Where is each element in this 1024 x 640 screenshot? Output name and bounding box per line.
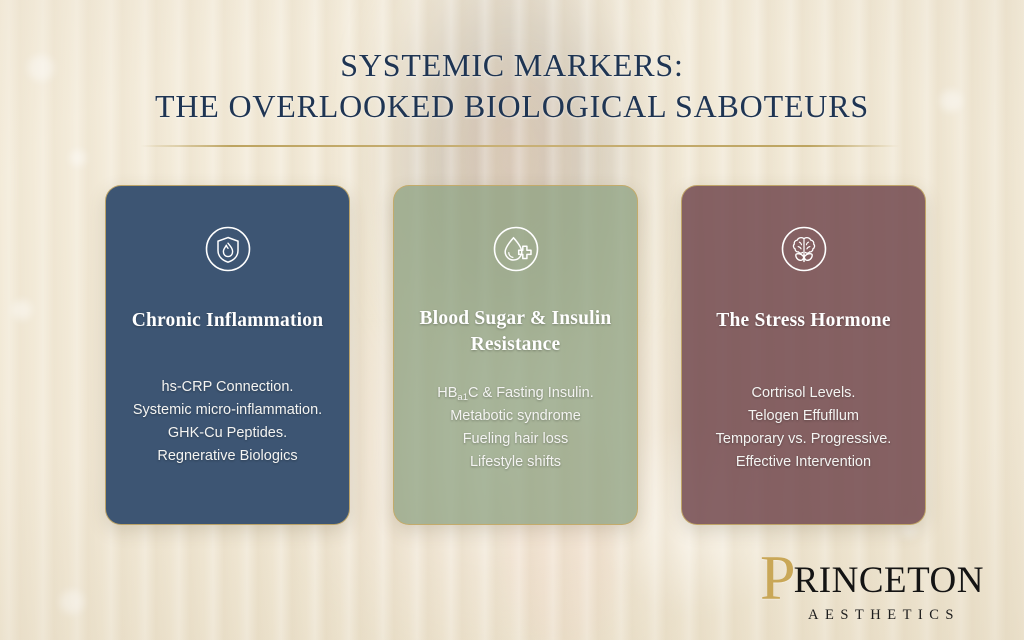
cards-container: Chronic Inflammation hs-CRP Connection. … [0, 0, 1024, 640]
logo-dropcap-p: P [760, 552, 796, 604]
card-line: Metabotic syndrome [437, 405, 593, 428]
card-body: Cortrisol Levels. Telogen Effufllum Temp… [716, 382, 892, 474]
card-title: Blood Sugar & Insulin Resistance [410, 306, 621, 357]
card-body: HBa1C & Fasting Insulin. Metabotic syndr… [437, 382, 593, 474]
brand-logo: P RINCETON AESTHETICS [760, 552, 1005, 624]
card-line: Telogen Effufllum [716, 405, 892, 428]
card-line: GHK-Cu Peptides. [133, 422, 322, 445]
card-line: Cortrisol Levels. [716, 382, 892, 405]
logo-wordmark: P RINCETON [760, 552, 1005, 604]
brain-plant-icon [775, 220, 833, 278]
card-line: Temporary vs. Progressive. [716, 428, 892, 451]
card-line: Fueling hair loss [437, 428, 593, 451]
card-line-hba1c: HBa1C & Fasting Insulin. [437, 382, 593, 405]
logo-tagline: AESTHETICS [808, 607, 1005, 624]
card-line: hs-CRP Connection. [133, 376, 322, 399]
shield-flame-icon [199, 220, 257, 278]
card-line: Lifestyle shifts [437, 451, 593, 474]
card-line: Regnerative Biologics [133, 445, 322, 468]
logo-name: RINCETON [794, 552, 984, 599]
card-chronic-inflammation[interactable]: Chronic Inflammation hs-CRP Connection. … [105, 185, 350, 525]
card-the-stress-hormone[interactable]: The Stress Hormone Cortrisol Levels. Tel… [681, 185, 926, 525]
card-title: The Stress Hormone [716, 308, 890, 338]
blood-drop-plus-icon [487, 220, 545, 278]
card-title: Chronic Inflammation [132, 308, 324, 338]
card-blood-sugar-insulin-resistance[interactable]: Blood Sugar & Insulin Resistance HBa1C &… [393, 185, 638, 525]
card-line: Effective Intervention [716, 451, 892, 474]
card-line: Systemic micro-inflammation. [133, 399, 322, 422]
slide-root: SYSTEMIC MARKERS: THE OVERLOOKED BIOLOGI… [0, 0, 1024, 640]
card-body: hs-CRP Connection. Systemic micro-inflam… [133, 376, 322, 468]
